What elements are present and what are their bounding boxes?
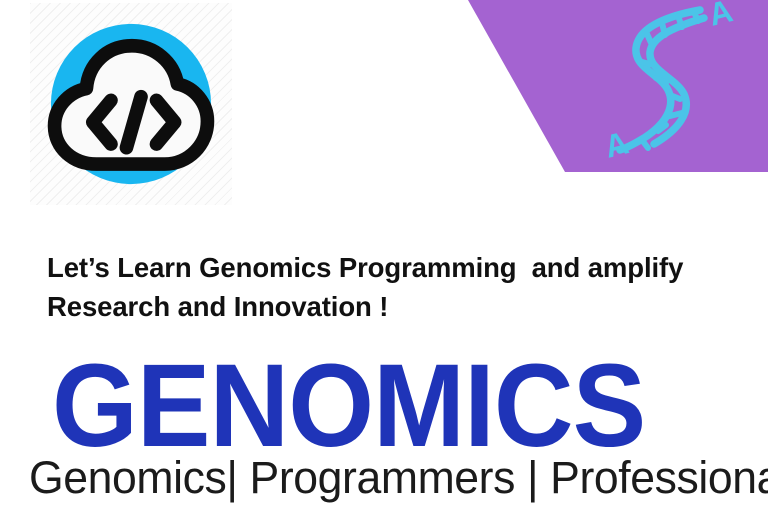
logo-tile	[30, 3, 232, 205]
dna-label-top: A	[705, 0, 736, 33]
tagline-text: Genomics| Programmers | Professionals	[29, 455, 768, 500]
headline-text: Let’s Learn Genomics Programming and amp…	[47, 248, 747, 326]
dna-helix-graphic: A A	[608, 0, 742, 170]
promotional-poster: A A Let’s Learn Genomics Programming and…	[0, 0, 768, 525]
wordmark-genomics: GENOMICS	[52, 347, 645, 465]
